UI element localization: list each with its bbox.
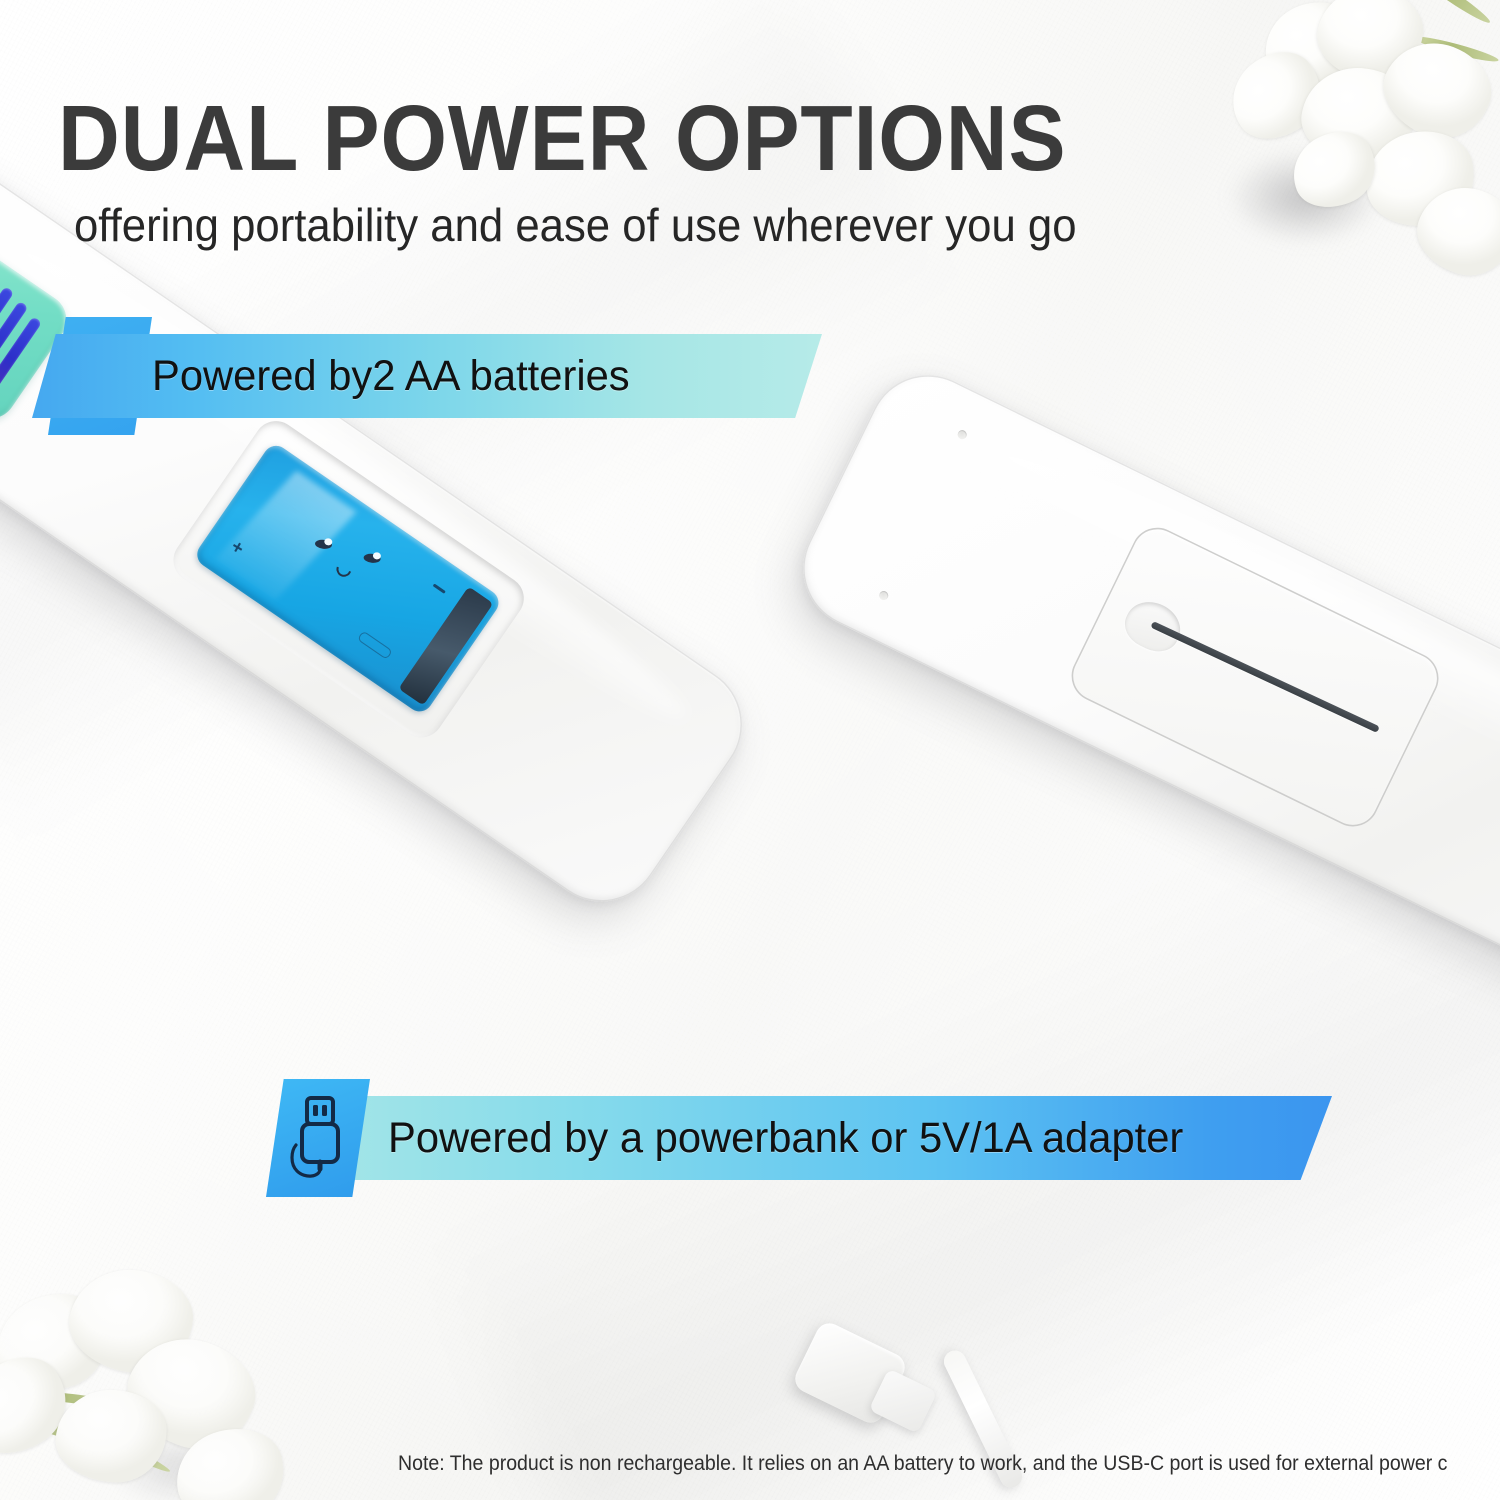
- banner-battery-label: Powered by2 AA batteries: [152, 352, 630, 401]
- banner-usb-label: Powered by a powerbank or 5V/1A adapter: [388, 1114, 1183, 1163]
- banner-usb-power: Powered by a powerbank or 5V/1A adapter: [284, 1096, 1332, 1180]
- page-title: DUAL POWER OPTIONS: [58, 92, 1066, 185]
- disclaimer-note: Note: The product is non rechargeable. I…: [398, 1452, 1447, 1476]
- page-subtitle: offering portability and ease of use whe…: [74, 202, 1077, 248]
- banner-battery-power: Powered by2 AA batteries: [48, 334, 822, 418]
- banner-usb-bar: Powered by a powerbank or 5V/1A adapter: [284, 1096, 1332, 1180]
- usb-icon-tab: [266, 1079, 370, 1197]
- battery-minus-symbol: [433, 583, 446, 593]
- usb-plug-icon: [287, 1095, 349, 1181]
- product-marketing-image: +: [0, 0, 1500, 1500]
- banner-battery-bar: Powered by2 AA batteries: [32, 334, 822, 418]
